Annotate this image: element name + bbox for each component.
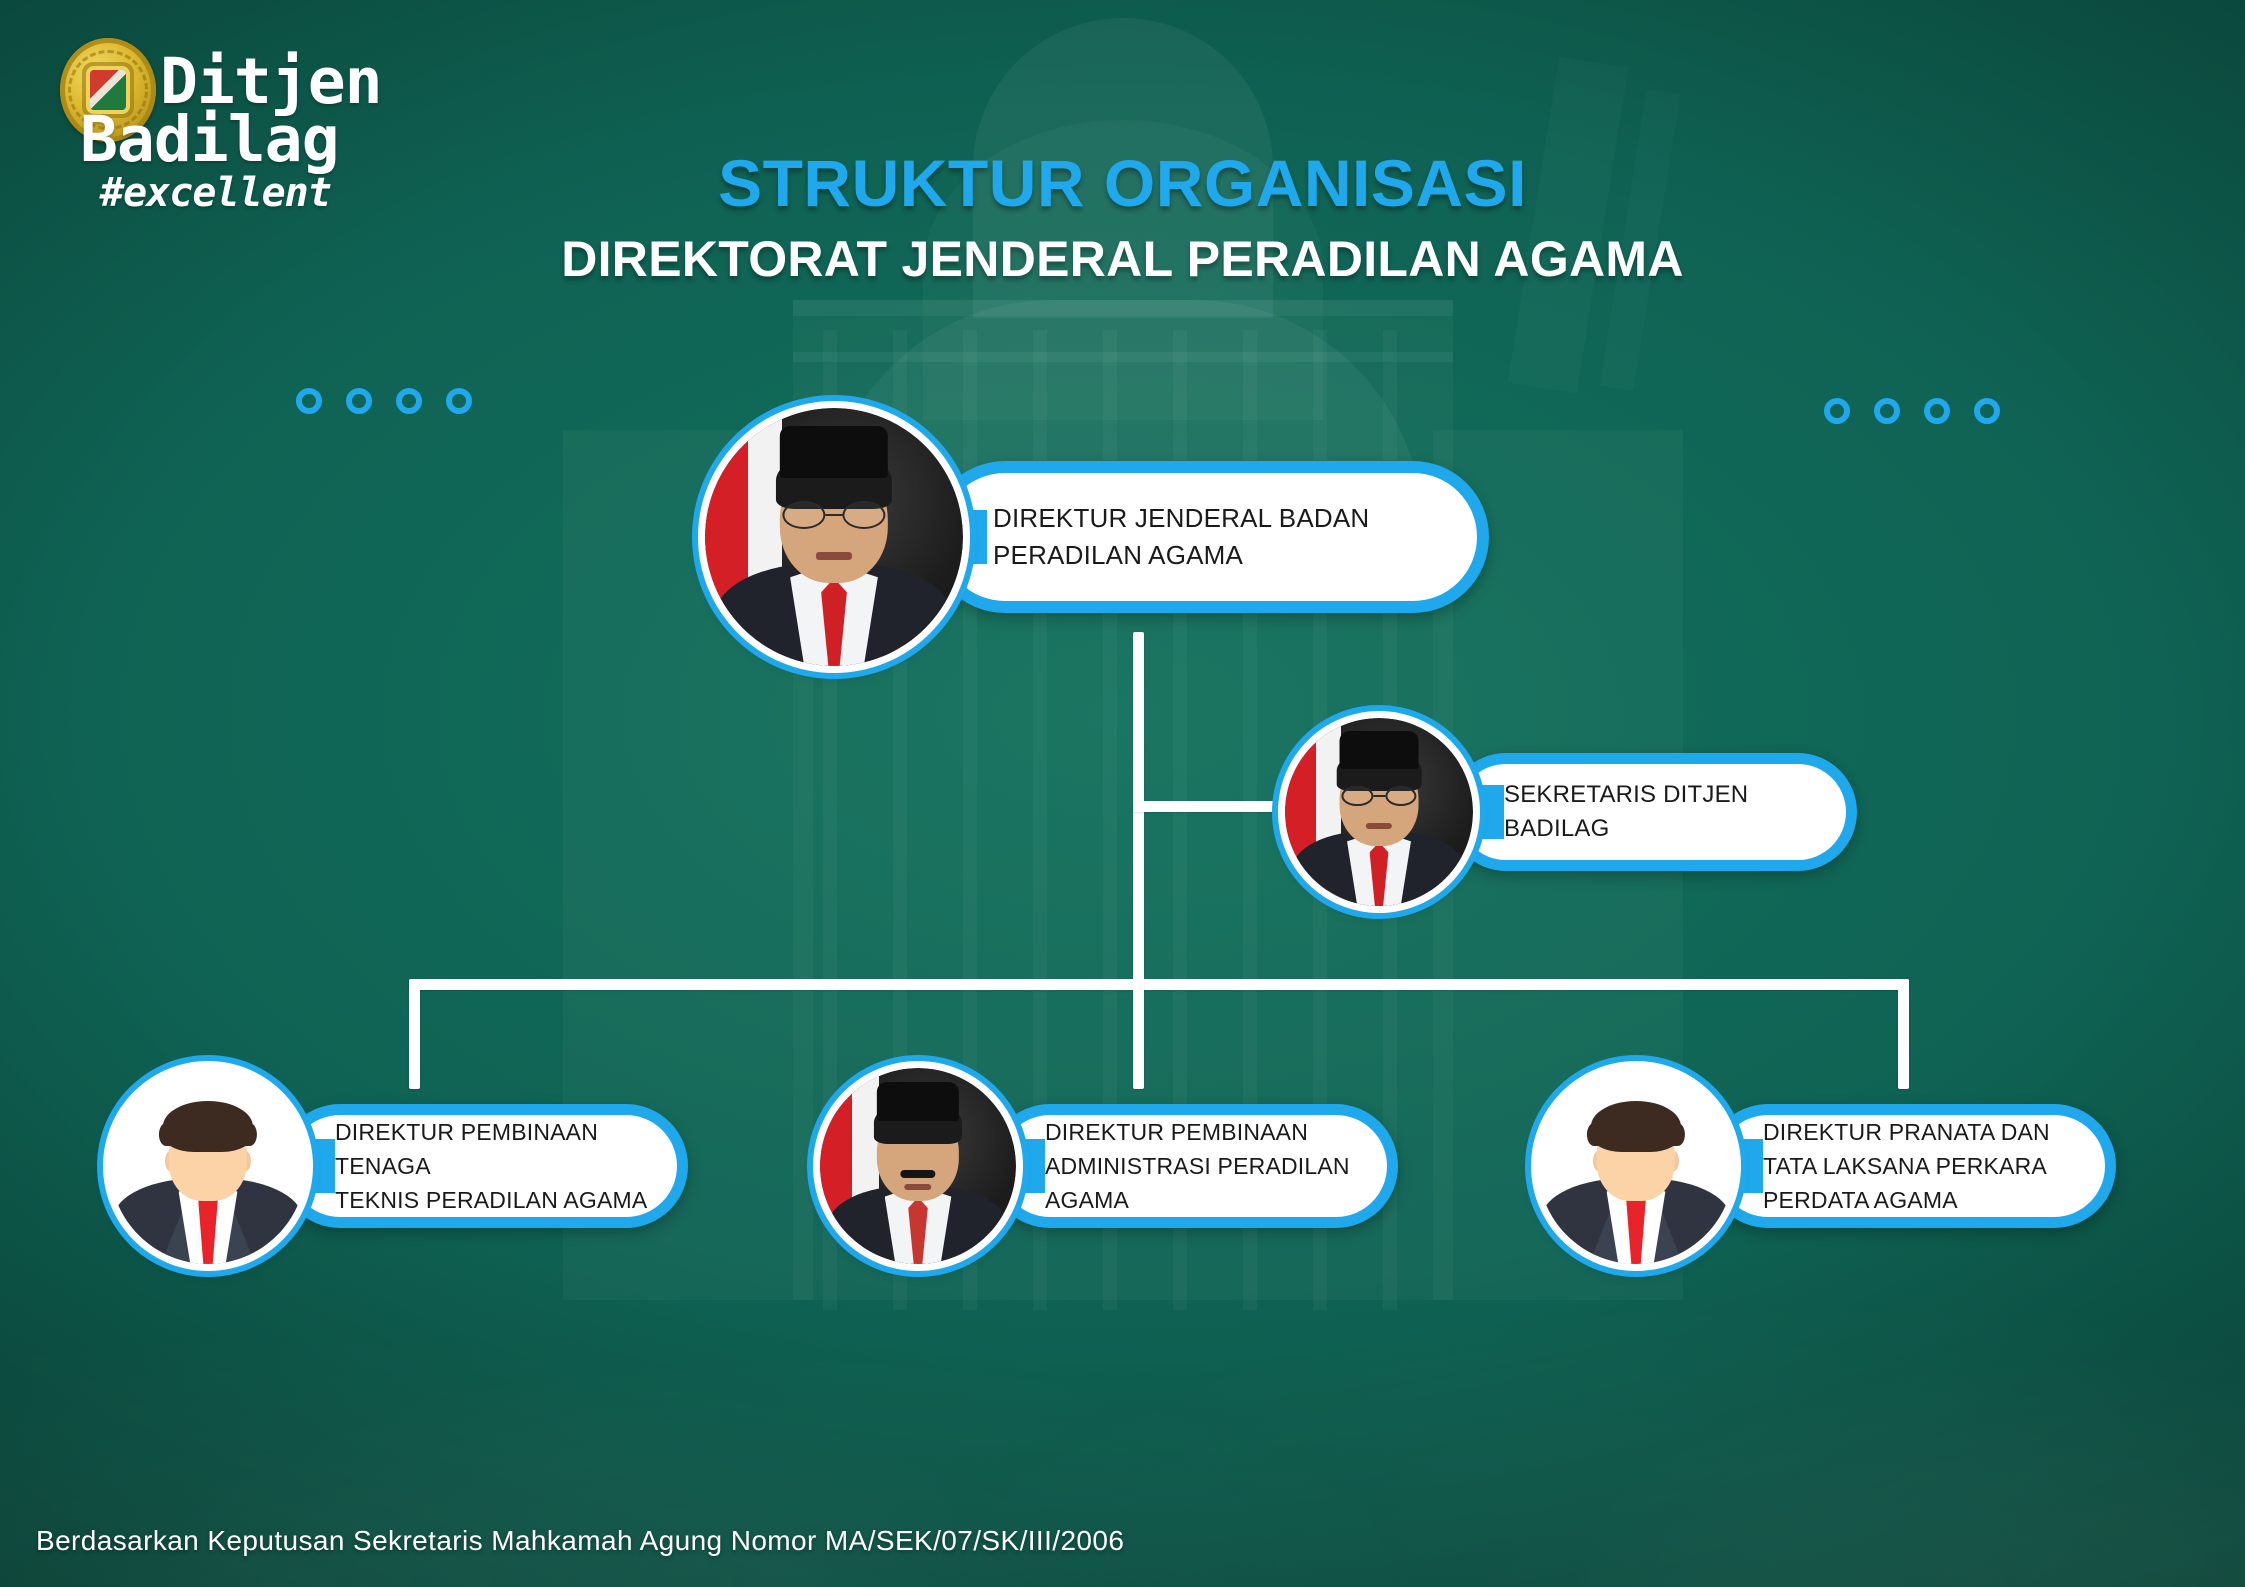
org-node-label: DIREKTUR PEMBINAAN TENAGA TEKNIS PERADIL…: [335, 1115, 677, 1217]
ring-dot-icon: [346, 388, 372, 414]
org-node-label-box[interactable]: DIREKTUR PEMBINAAN TENAGA TEKNIS PERADIL…: [278, 1104, 688, 1228]
avatar: [820, 1068, 1016, 1264]
org-node-direktur-2[interactable]: DIREKTUR PEMBINAAN ADMINISTRASI PERADILA…: [820, 1068, 1398, 1264]
connector-horizontal-bus: [409, 979, 1909, 990]
org-chart-canvas: Ditjen Badilag #excellent STRUKTUR ORGAN…: [0, 0, 2245, 1587]
org-node-label: DIREKTUR PEMBINAAN ADMINISTRASI PERADILA…: [1045, 1115, 1350, 1217]
header-block: STRUKTUR ORGANISASI DIREKTORAT JENDERAL …: [0, 150, 2245, 284]
ring-dot-icon: [1974, 398, 2000, 424]
placeholder-avatar-male-suit: [1538, 1068, 1734, 1264]
photo-portrait-male-peci-round-glasses: [1285, 718, 1473, 906]
avatar: [110, 1068, 306, 1264]
ring-dot-icon: [1924, 398, 1950, 424]
ring-dot-icon: [1824, 398, 1850, 424]
ring-dot-icon: [296, 388, 322, 414]
decor-dots-right: [1824, 398, 2000, 424]
connector-branch-to-sekretaris: [1133, 801, 1293, 812]
org-node-label-box[interactable]: DIREKTUR PEMBINAAN ADMINISTRASI PERADILA…: [988, 1104, 1398, 1228]
page-subtitle: DIREKTORAT JENDERAL PERADILAN AGAMA: [0, 234, 2245, 284]
ring-dot-icon: [396, 388, 422, 414]
avatar: [1285, 718, 1473, 906]
org-node-sekretaris[interactable]: SEKRETARIS DITJEN BADILAG: [1285, 718, 1857, 906]
decor-dots-left: [296, 388, 472, 414]
placeholder-avatar-male-suit: [110, 1068, 306, 1264]
org-node-direktur-3[interactable]: DIREKTUR PRANATA DAN TATA LAKSANA PERKAR…: [1538, 1068, 2116, 1264]
ring-dot-icon: [1874, 398, 1900, 424]
org-node-label-box[interactable]: SEKRETARIS DITJEN BADILAG: [1447, 753, 1857, 871]
footer-legal-note: Berdasarkan Keputusan Sekretaris Mahkama…: [36, 1525, 1124, 1557]
page-title: STRUKTUR ORGANISASI: [0, 150, 2245, 216]
org-node-label-box[interactable]: DIREKTUR PRANATA DAN TATA LAKSANA PERKAR…: [1706, 1104, 2116, 1228]
org-node-label: DIREKTUR PRANATA DAN TATA LAKSANA PERKAR…: [1763, 1115, 2050, 1217]
org-node-label: DIREKTUR JENDERAL BADAN PERADILAN AGAMA: [993, 500, 1369, 574]
avatar: [1538, 1068, 1734, 1264]
org-node-dirjen[interactable]: DIREKTUR JENDERAL BADAN PERADILAN AGAMA: [705, 408, 1489, 666]
ring-dot-icon: [446, 388, 472, 414]
org-node-label: SEKRETARIS DITJEN BADILAG: [1504, 778, 1846, 846]
org-node-label-box[interactable]: DIREKTUR JENDERAL BADAN PERADILAN AGAMA: [929, 461, 1489, 613]
org-node-direktur-1[interactable]: DIREKTUR PEMBINAAN TENAGA TEKNIS PERADIL…: [110, 1068, 688, 1264]
photo-portrait-male-peci-glasses: [705, 408, 963, 666]
avatar: [705, 408, 963, 666]
photo-portrait-male-peci-mustache: [820, 1068, 1016, 1264]
